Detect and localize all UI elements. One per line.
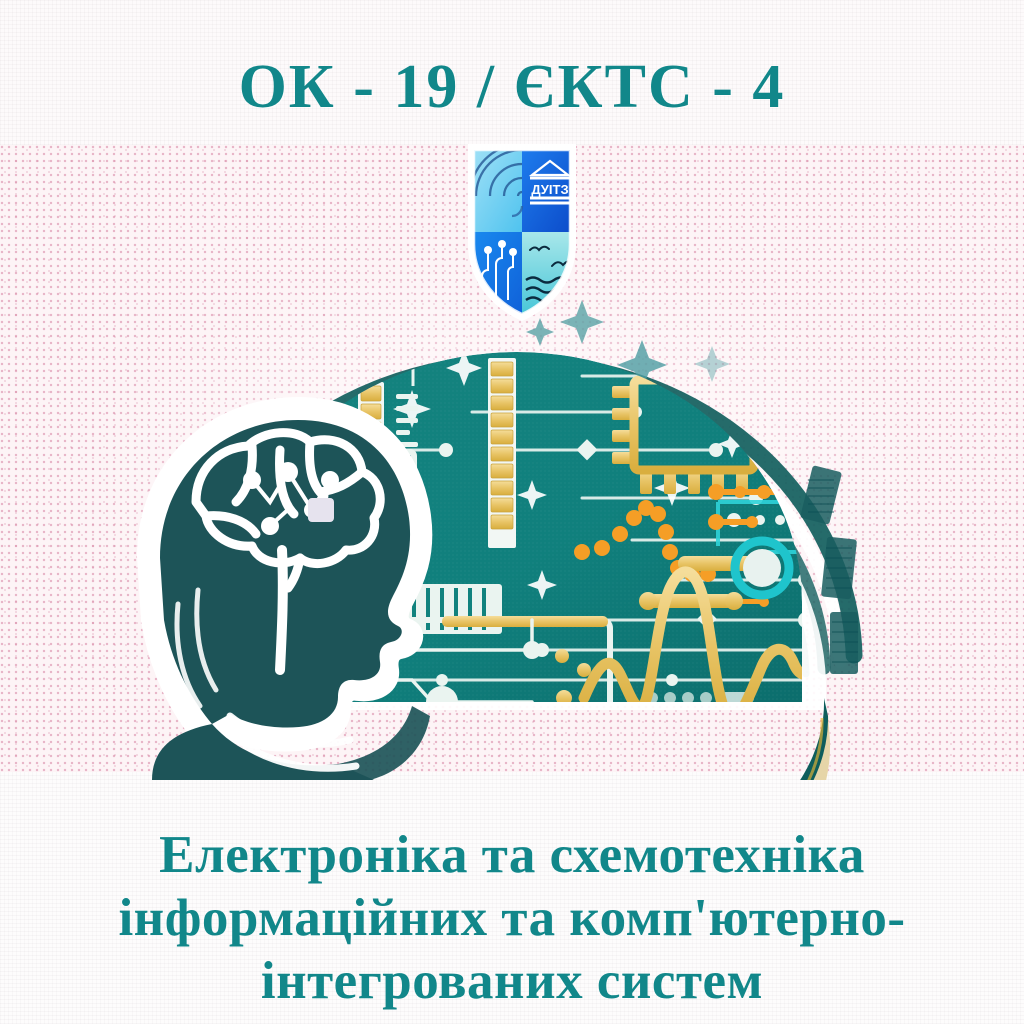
course-title: Електроніка та схемотехніка інформаційни… [40, 824, 984, 1013]
university-shield-logo: ДУІТЗ [466, 140, 578, 322]
brain-chip-node [308, 498, 334, 522]
shield-motto: ДУІТЗ [531, 182, 568, 197]
page-title: ОК - 19 / ЄКТС - 4 [0, 52, 1024, 123]
ic-pin-strip-right [488, 358, 516, 548]
human-head-silhouette [148, 408, 430, 780]
teal-ring-component [735, 541, 789, 595]
poster-canvas: ОК - 19 / ЄКТС - 4 [0, 0, 1024, 1024]
